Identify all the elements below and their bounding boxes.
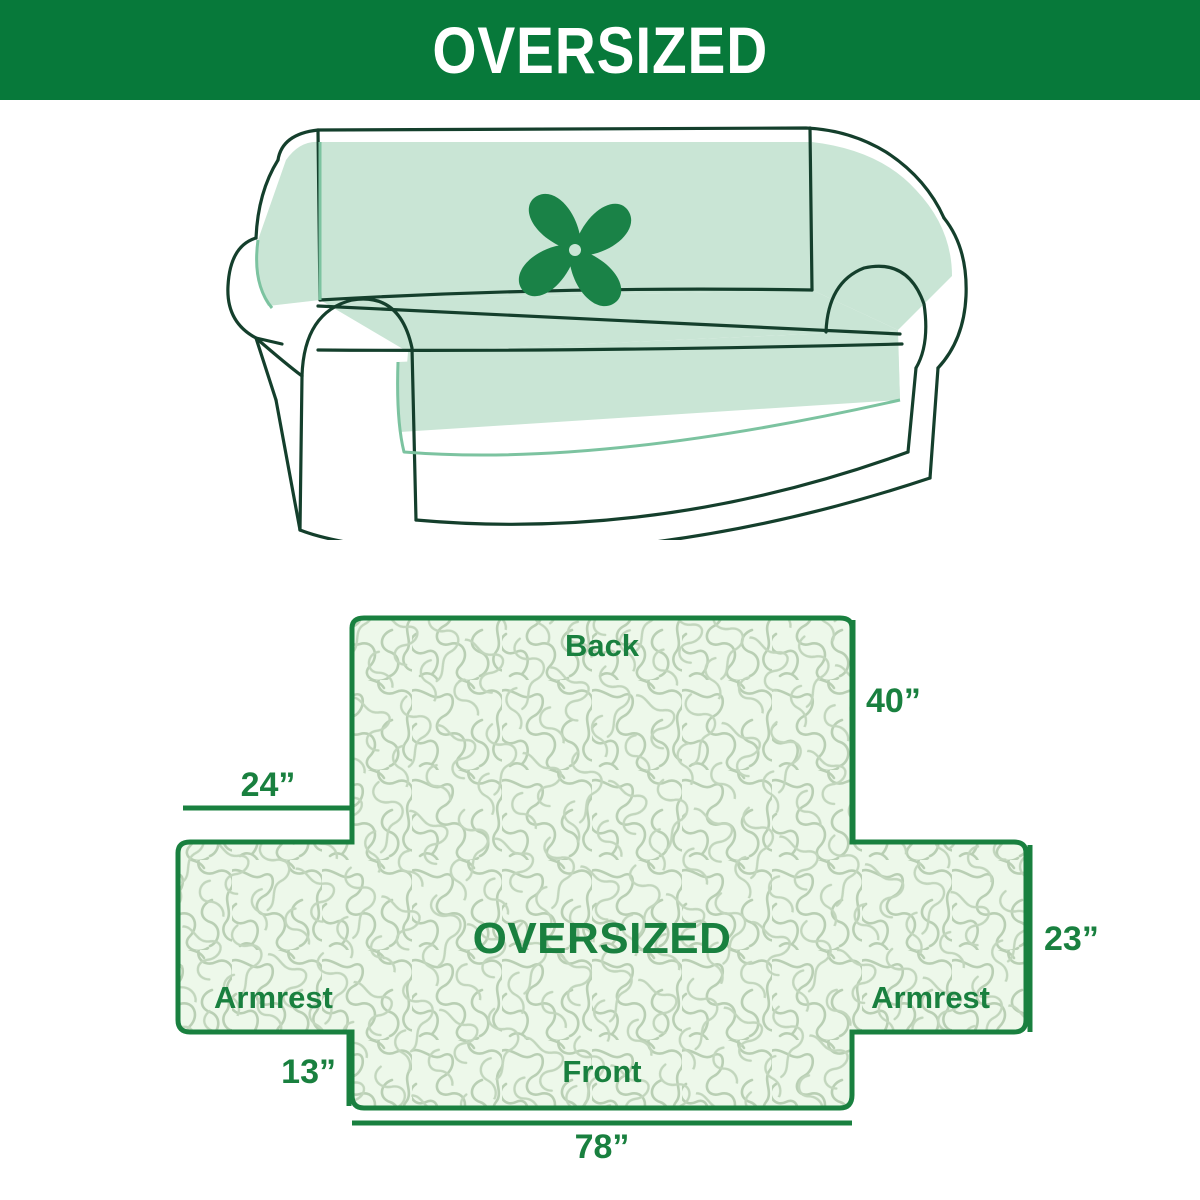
panel-label-front: Front [562,1054,641,1089]
dimension-value-78: 78” [575,1128,630,1166]
dimension-value-23: 23” [1044,920,1099,958]
center-label-oversized: OVERSIZED [473,914,732,963]
dimension-value-24: 24” [241,766,296,804]
cover-flat-shape: Back OVERSIZED Armrest Armrest Front 40”… [0,540,1200,1200]
dimension-front-height: 13” [281,1034,349,1106]
panel-label-armrest-left: Armrest [214,980,333,1015]
dimension-value-13: 13” [281,1053,336,1091]
sofa-base-left [276,400,300,530]
dimension-value-40: 40” [866,682,921,720]
sofa-backrest-right-inner [810,128,812,290]
dimension-total-width: 78” [352,1123,852,1166]
panel-label-armrest-right: Armrest [871,980,990,1015]
slipcover-arm-left [256,142,320,306]
fan-hub [569,244,581,256]
sofa-drawing [0,100,1200,540]
sofa-illustration [0,100,1200,540]
sofa-arm-right-inner-front [908,368,916,452]
sofa-arm-left-front [300,376,302,530]
dimension-back-height: 40” [853,620,921,840]
header-banner: OVERSIZED [0,0,1200,100]
dimension-armrest-height: 23” [1030,845,1099,1032]
dimension-armrest-width: 24” [183,766,352,808]
page-title: OVERSIZED [432,17,768,83]
flat-shape-group: Back OVERSIZED Armrest Armrest Front [142,590,1062,1150]
sofa-front-panel [416,452,908,524]
panel-label-back: Back [565,628,640,663]
sofa-arm-right-front [930,368,938,478]
sofa-skirt-bottom [300,478,930,540]
flat-layout-diagram: Back OVERSIZED Armrest Armrest Front 40”… [0,540,1200,1200]
